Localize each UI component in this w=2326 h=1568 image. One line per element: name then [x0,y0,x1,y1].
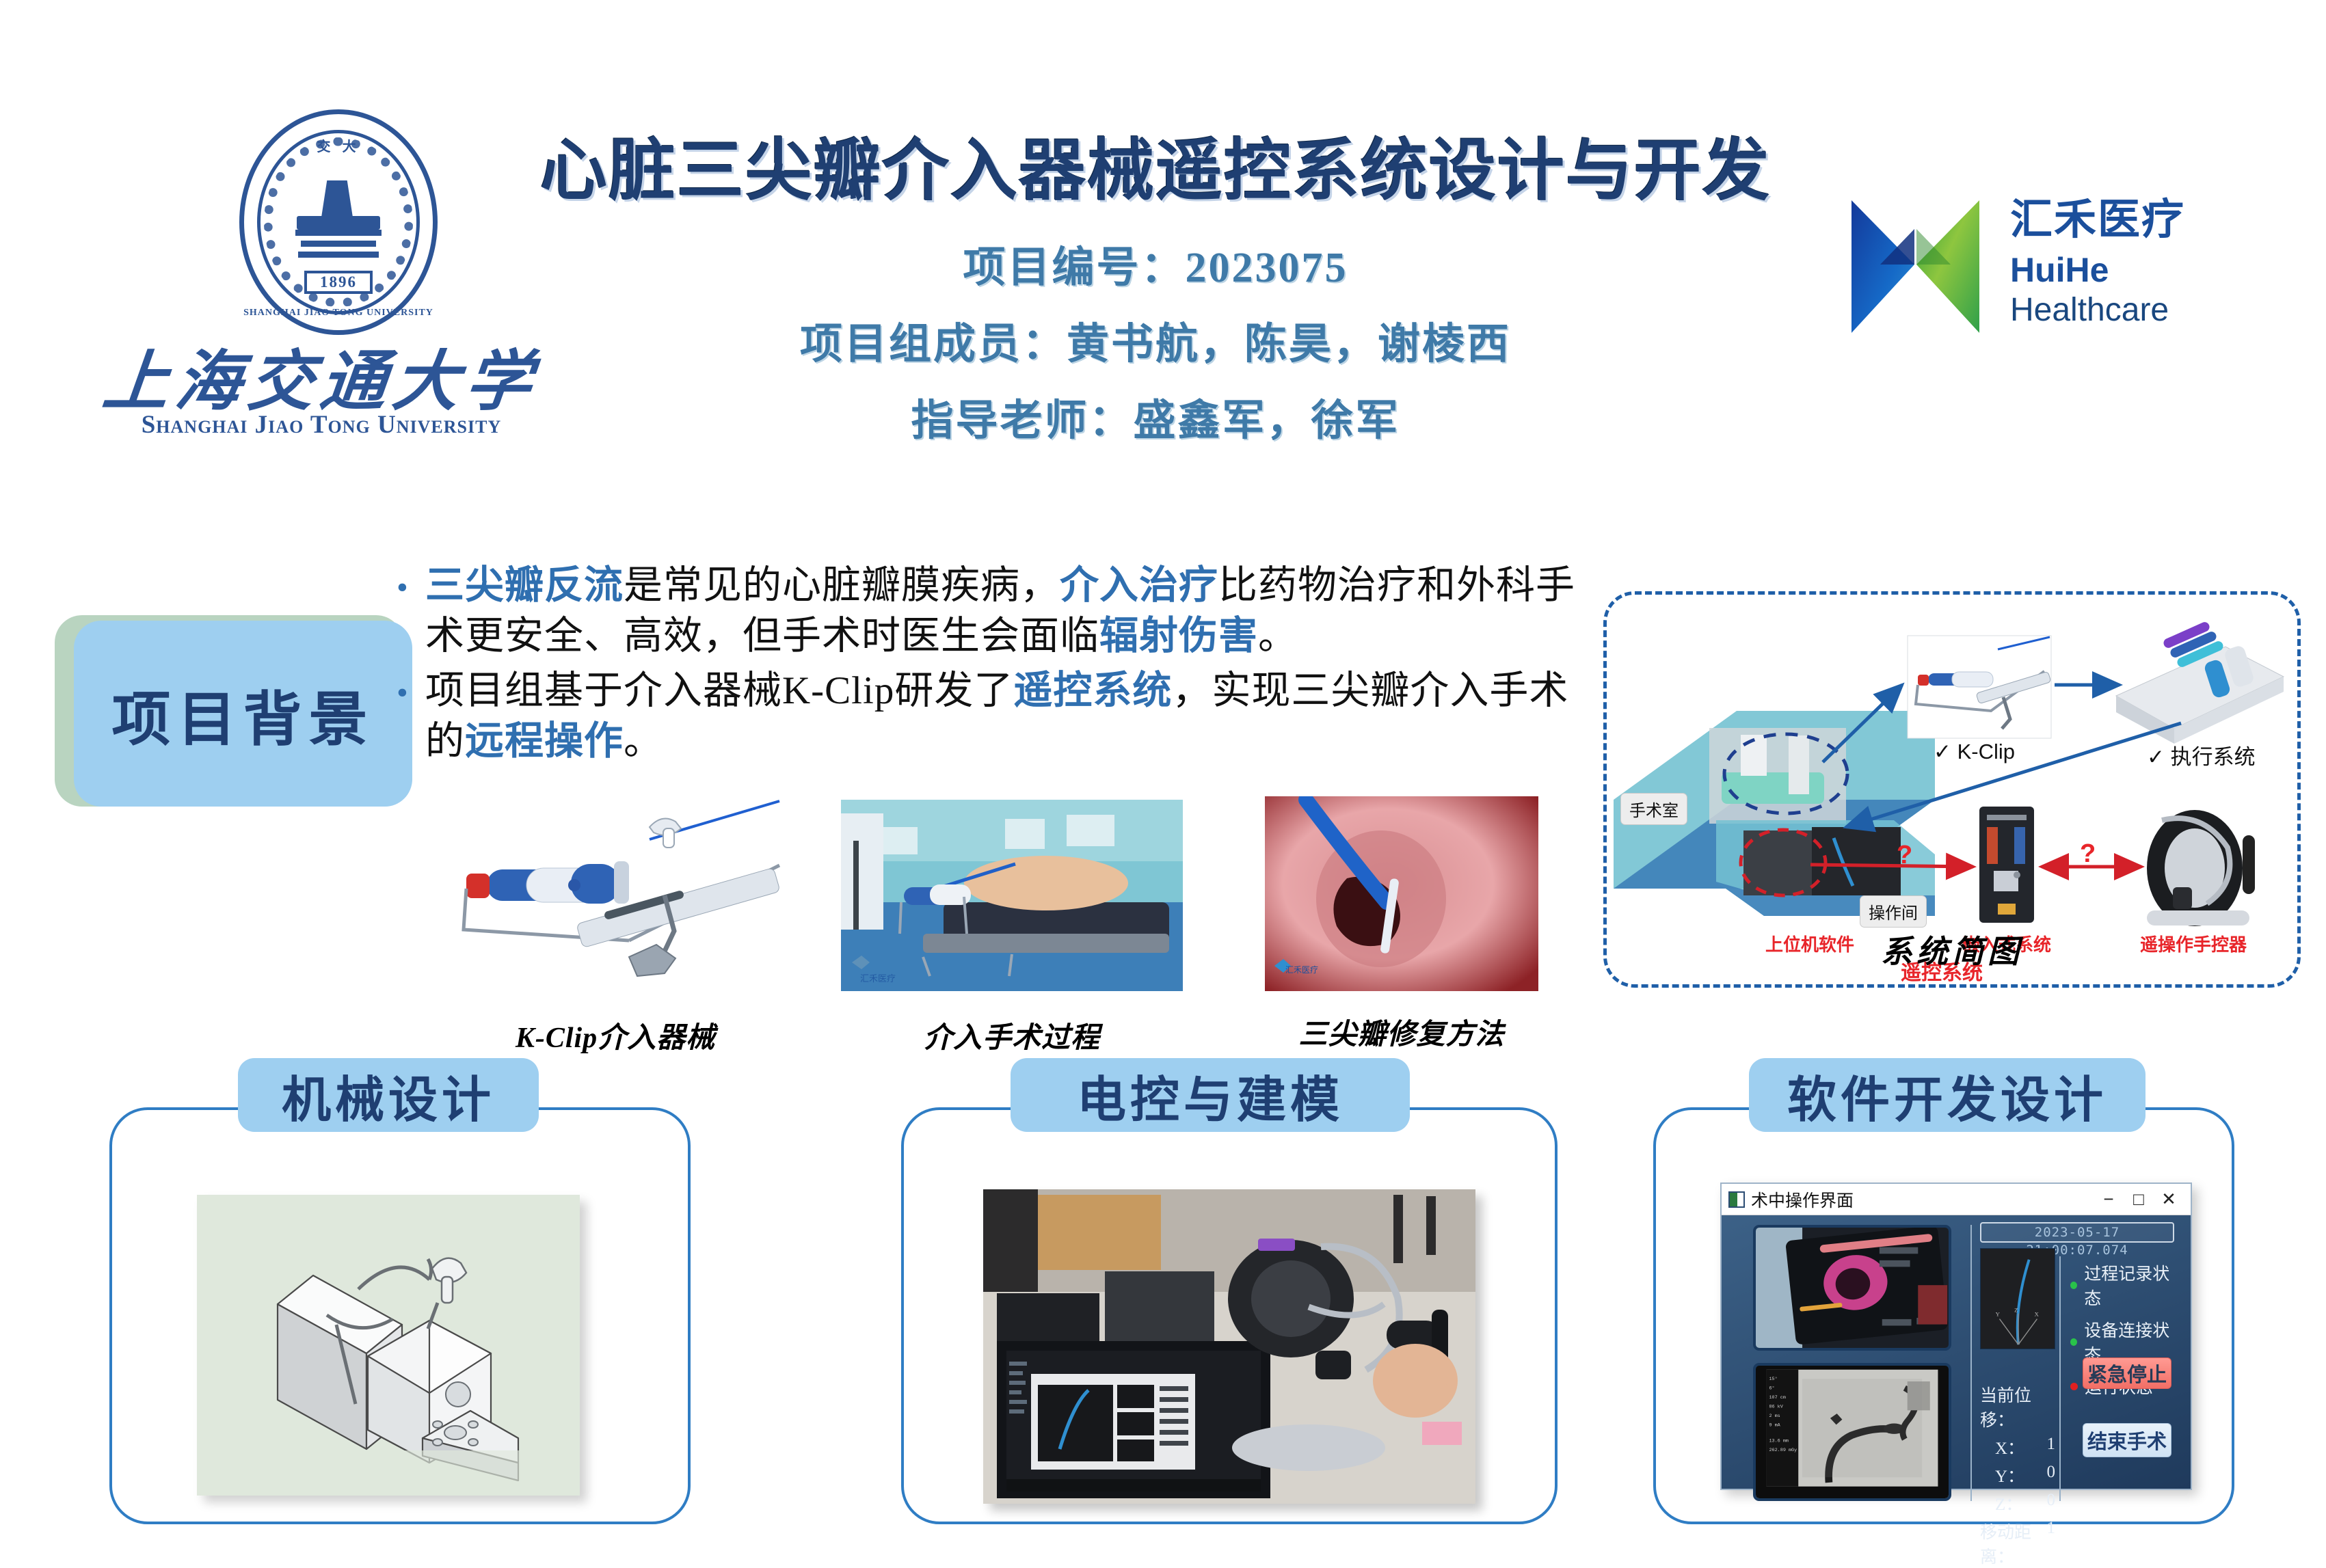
seal-arc-bottom-text: SHANGHAI JIAO TONG UNIVERSITY [239,308,438,319]
window-body: 15°6°107 cm 86 kV2 ms9 mA 13.6 mm262.89 … [1722,1215,2191,1489]
displacement-row-z: Z： 0 [1980,1491,2055,1515]
displacement-row-x: X： 1 [1980,1435,2055,1459]
huihe-name-en-1: HuiHe [2010,250,2263,290]
panel-heading-mechanical-label: 机械设计 [282,1059,495,1131]
panel-heading-electrical: 电控与建模 [1011,1058,1410,1132]
emergency-stop-button[interactable]: 紧急停止 [2083,1357,2171,1389]
seal-year: 1896 [304,271,373,294]
label-execution-system: ✓ 执行系统 [2147,740,2256,770]
window-title: 术中操作界面 [1751,1187,2094,1212]
label-operating-room: 手术室 [1620,793,1687,825]
svg-text:6°: 6° [1769,1385,1774,1392]
question-mark-2: ? [2080,839,2096,869]
end-surgery-button[interactable]: 结束手术 [2083,1423,2171,1457]
divider-left [1970,1225,1972,1501]
figure-caption-2: 介入手术过程 [841,1014,1183,1056]
displacement-readout: 当前位移： X： 1 Y： 0 Z： 0 移动距离： 1 [1980,1382,2055,1568]
figure-lab-setup [983,1189,1475,1504]
minimize-button[interactable]: − [2094,1187,2124,1212]
figure-caption-3: 三尖瓣修复方法 [1251,1011,1552,1053]
catheter-3d-plot: YXZ [1980,1248,2055,1349]
hl-interventional-therapy: 介入治疗 [1060,564,1218,607]
status-light-connection [2070,1338,2077,1346]
displacement-value-z: 0 [2047,1491,2056,1515]
displacement-row-y: Y： 0 [1980,1463,2055,1487]
project-meta: 项目编号：2023075 项目组成员：黄书航，陈昊，谢棱西 指导老师：盛鑫军，徐… [479,232,1832,462]
hl-tricuspid-regurgitation: 三尖瓣反流 [425,564,624,607]
label-control-room: 操作间 [1860,895,1927,928]
seal-books-icon [295,230,382,265]
huihe-name-cn: 汇禾医疗 [2010,185,2263,246]
status-label-recording: 过程记录状态 [2084,1260,2180,1310]
figure-kclip-device [424,786,807,991]
text-2a: 项目组基于介入器械K-Clip研发了 [425,669,1013,712]
list-item: • 项目组基于介入器械K-Clip研发了遥控系统，实现三尖瓣介入手术的远程操作。 [397,666,1586,767]
divider-right [2059,1256,2061,1501]
window-title-bar: 术中操作界面 − □ ✕ [1722,1184,2191,1215]
figure-mechanical-cad [197,1195,580,1496]
hl-radiation-harm: 辐射伤害 [1099,614,1258,658]
background-section-badge: 项目背景 [55,615,410,807]
svg-text:15°: 15° [1769,1376,1777,1382]
project-members: 项目组成员：黄书航，陈昊，谢棱西 [479,309,1832,370]
bullet-text-1: 三尖瓣反流是常见的心脏瓣膜疾病，介入治疗比药物治疗和外科手术更安全、高效，但手术… [425,560,1586,662]
svg-text:13.6 mm: 13.6 mm [1769,1438,1789,1444]
svg-text:Y: Y [1996,1311,2001,1318]
displacement-value-y: 0 [2047,1463,2056,1487]
label-kclip: ✓ K-Clip [1934,740,2015,764]
panel-heading-software-label: 软件开发设计 [1787,1059,2107,1131]
hl-remote-operation: 远程操作 [465,720,624,763]
sjtu-seal-icon: 交 大 1896 SHANGHAI JIAO TONG UNIVERSITY [239,109,438,335]
huihe-logo: 汇禾医疗 HuiHe Healthcare [1839,178,2263,383]
project-number: 项目编号：2023075 [479,232,1832,294]
bullet-icon: • [397,673,425,714]
displacement-label-z: Z： [1980,1491,2022,1515]
displacement-value-x: 1 [2047,1435,2056,1459]
maximize-button[interactable]: □ [2124,1187,2154,1212]
status-row-recording: 过程记录状态 [2070,1260,2180,1310]
svg-text:Z: Z [2014,1307,2018,1314]
panel-heading-electrical-label: 电控与建模 [1077,1059,1344,1131]
figure-caption-1: K-Clip介入器械 [424,1014,807,1056]
system-diagram-title: 系统简图 [1607,927,2297,972]
text-1b: 是常见的心脏瓣膜疾病， [624,564,1060,607]
hl-remote-control-system: 遥控系统 [1013,669,1172,712]
seal-arc-top-text: 交 大 [239,135,438,155]
displacement-title: 当前位移： [1980,1382,2055,1431]
system-diagram: 手术室 操作间 ✓ K-Clip ✓ 执行系统 上位机软件 嵌入式系统 遥操作手… [1603,591,2301,988]
huihe-wordmark: 汇禾医疗 HuiHe Healthcare [2010,185,2263,329]
ultrasound-feed [1753,1225,1951,1351]
app-icon [1728,1191,1745,1208]
question-mark-1: ? [1897,841,1912,870]
project-advisors: 指导老师：盛鑫军，徐军 [479,386,1832,447]
huihe-name-en-2: Healthcare [2010,291,2263,329]
text-2e: 。 [624,720,663,763]
displacement-label-y: Y： [1980,1463,2024,1487]
status-light-recording [2070,1282,2077,1289]
fluoroscopy-feed: 15°6°107 cm 86 kV2 ms9 mA 13.6 mm262.89 … [1753,1363,1951,1501]
displacement-label-distance: 移动距离： [1980,1519,2047,1568]
poster-header: 交 大 1896 SHANGHAI JIAO TONG UNIVERSITY 上… [0,0,2326,506]
figure-interventional-surgery: 汇禾医疗 [841,800,1183,991]
background-bullet-list: • 三尖瓣反流是常见的心脏瓣膜疾病，介入治疗比药物治疗和外科手术更安全、高效，但… [397,560,1586,771]
status-light-running [2070,1383,2078,1390]
huihe-butterfly-icon [1839,188,1996,345]
svg-text:X: X [2035,1311,2040,1318]
svg-text:262.89 mGy: 262.89 mGy [1769,1448,1797,1453]
page-title: 心脏三尖瓣介入器械遥控系统设计与开发 [479,116,1832,213]
text-1f: 。 [1258,614,1298,658]
svg-text:汇禾医疗: 汇禾医疗 [860,973,896,984]
background-badge-label: 项目背景 [112,671,375,757]
displacement-value-distance: 1 [2047,1519,2056,1568]
displacement-label-x: X： [1980,1435,2024,1459]
svg-text:汇禾医疗: 汇禾医疗 [1285,965,1318,975]
panel-heading-mechanical: 机械设计 [238,1058,539,1132]
panel-heading-software: 软件开发设计 [1749,1058,2145,1132]
figure-valve-repair: 汇禾医疗 [1265,796,1538,991]
svg-text:9 mA: 9 mA [1769,1422,1780,1428]
bullet-icon: • [397,567,425,608]
displacement-row-distance: 移动距离： 1 [1980,1519,2055,1568]
close-button[interactable]: ✕ [2154,1187,2184,1212]
timestamp-display: 2023-05-17 21:00:07.074 [1980,1222,2174,1243]
software-window: 术中操作界面 − □ ✕ [1720,1182,2192,1490]
badge-fill: 项目背景 [74,621,412,807]
list-item: • 三尖瓣反流是常见的心脏瓣膜疾病，介入治疗比药物治疗和外科手术更安全、高效，但… [397,560,1586,662]
svg-text:86 kV: 86 kV [1769,1404,1783,1409]
svg-text:107 cm: 107 cm [1769,1395,1785,1401]
bullet-text-2: 项目组基于介入器械K-Clip研发了遥控系统，实现三尖瓣介入手术的远程操作。 [425,666,1586,767]
svg-text:2 ms: 2 ms [1769,1414,1780,1419]
